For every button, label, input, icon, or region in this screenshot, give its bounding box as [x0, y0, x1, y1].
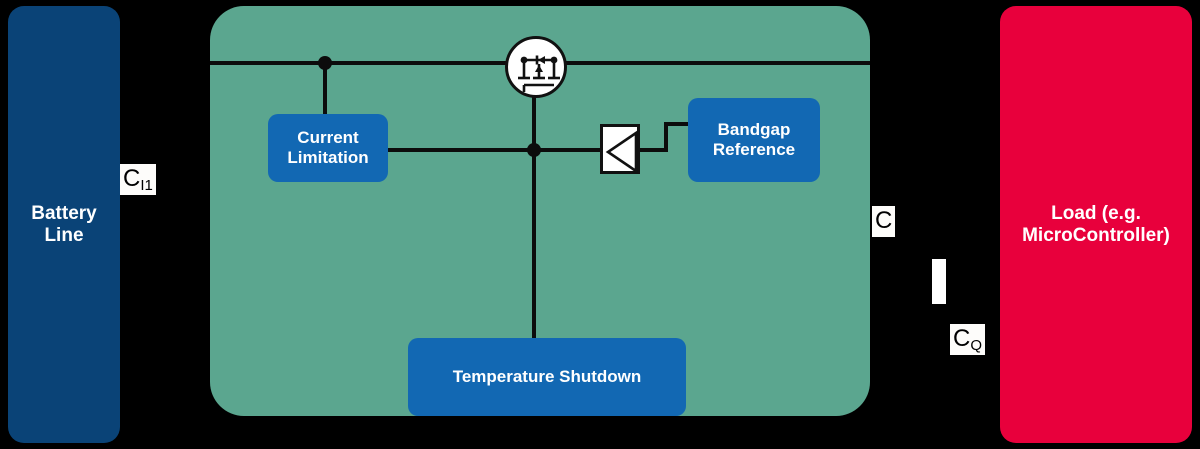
capacitor-plate-icon	[932, 259, 946, 304]
input-capacitor-base: C	[123, 165, 140, 192]
quiescent-capacitor-label: CQ	[950, 324, 985, 355]
current-limitation-label: Current Limitation	[287, 128, 368, 168]
diagram-canvas: Battery Line	[0, 0, 1200, 449]
temperature-shutdown-block[interactable]: Temperature Shutdown	[408, 338, 686, 416]
battery-line-label: Battery Line	[31, 203, 96, 247]
input-capacitor-label: CI1	[120, 164, 156, 195]
comparator-icon	[600, 124, 640, 174]
current-limitation-text-1: Current	[297, 128, 358, 147]
output-node-base: C	[875, 207, 892, 234]
load-text-2: MicroController)	[1022, 225, 1170, 246]
current-limitation-block[interactable]: Current Limitation	[268, 114, 388, 182]
wire-node-to-temperature-shutdown	[532, 150, 536, 340]
wire-current-limitation-to-node	[386, 148, 536, 152]
bandgap-reference-text-1: Bandgap	[718, 120, 791, 139]
current-limitation-text-2: Limitation	[287, 148, 368, 167]
load-text-1: Load (e.g.	[1051, 203, 1141, 224]
mosfet-icon	[505, 36, 567, 98]
junction-mid-icon	[527, 143, 541, 157]
quiescent-capacitor-base: C	[953, 325, 970, 352]
bandgap-reference-block[interactable]: Bandgap Reference	[688, 98, 820, 182]
bandgap-reference-text-2: Reference	[713, 140, 795, 159]
bandgap-reference-label: Bandgap Reference	[713, 120, 795, 160]
wire-rail-to-current-limitation	[323, 63, 327, 116]
battery-line-text-2: Line	[44, 225, 83, 246]
battery-line-text-1: Battery	[31, 203, 96, 224]
output-node-label: C	[872, 206, 895, 237]
junction-top-icon	[318, 56, 332, 70]
quiescent-capacitor-sub: Q	[970, 337, 982, 354]
battery-line-block: Battery Line	[8, 6, 120, 443]
load-block: Load (e.g. MicroController)	[1000, 6, 1192, 443]
temperature-shutdown-label: Temperature Shutdown	[453, 367, 642, 387]
wire-comparator-riser	[664, 124, 668, 150]
wire-node-to-comparator	[534, 148, 600, 152]
input-capacitor-sub: I1	[140, 177, 153, 194]
load-label: Load (e.g. MicroController)	[1022, 203, 1170, 247]
